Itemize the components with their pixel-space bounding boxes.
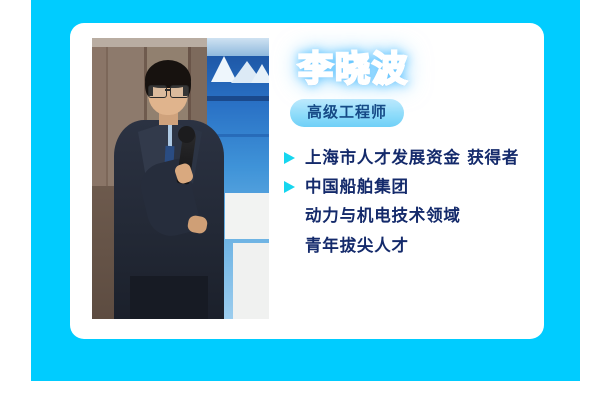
bullet-spacer-icon	[284, 210, 295, 222]
credential-text: 上海市人才发展资金 获得者	[305, 148, 519, 167]
credential-item: 动力与机电技术领域	[284, 206, 534, 225]
credential-item: 青年拔尖人才	[284, 236, 534, 255]
podium-top	[225, 193, 269, 239]
speaker-photo	[92, 38, 269, 319]
credential-text: 中国船舶集团	[305, 177, 409, 196]
glasses-lens-right	[170, 85, 189, 98]
profile-content: 李晓波 高级工程师 上海市人才发展资金 获得者 中国船舶集团 动力与机电技术领域	[284, 53, 534, 265]
bullet-spacer-icon	[284, 240, 295, 252]
person-legs	[130, 276, 208, 319]
glasses-bridge	[165, 89, 170, 91]
credential-item: 上海市人才发展资金 获得者	[284, 148, 534, 167]
screen-shape-3	[251, 64, 269, 83]
triangle-bullet-icon	[284, 152, 295, 164]
profile-card-screenshot: 李晓波 高级工程师 上海市人才发展资金 获得者 中国船舶集团 动力与机电技术领域	[0, 0, 607, 410]
screen-sky	[207, 38, 269, 56]
job-title-badge: 高级工程师	[290, 99, 404, 127]
glasses-lens-left	[148, 85, 167, 98]
credential-text: 动力与机电技术领域	[305, 206, 461, 225]
credentials-list: 上海市人才发展资金 获得者 中国船舶集团 动力与机电技术领域 青年拔尖人才	[284, 148, 534, 256]
title-badge-wrap: 高级工程师	[290, 99, 534, 127]
screen-horizon-line	[207, 96, 269, 101]
microphone-icon	[178, 126, 195, 143]
credential-text: 青年拔尖人才	[305, 236, 409, 255]
podium-body	[233, 243, 269, 319]
photo-contents	[92, 38, 269, 319]
speaker-name: 李晓波	[298, 53, 409, 88]
triangle-bullet-icon	[284, 181, 295, 193]
profile-card: 李晓波 高级工程师 上海市人才发展资金 获得者 中国船舶集团 动力与机电技术领域	[70, 23, 544, 339]
wall-top-strip	[92, 38, 216, 47]
credential-item: 中国船舶集团	[284, 177, 534, 196]
